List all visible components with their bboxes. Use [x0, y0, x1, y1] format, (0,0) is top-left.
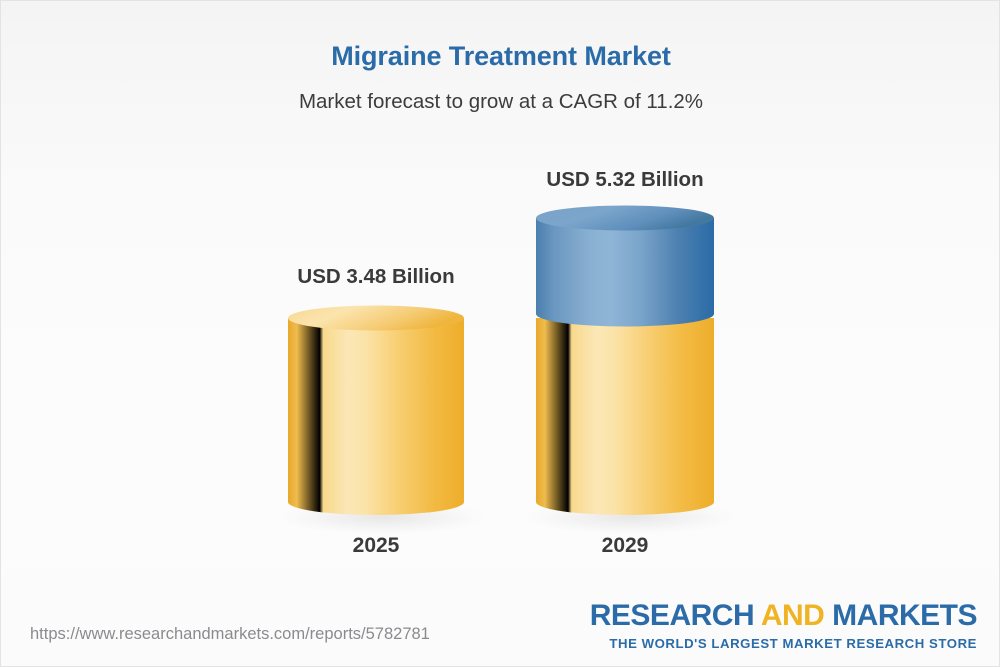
bar-2025[interactable] — [279, 306, 487, 535]
value-label-2029: USD 5.32 Billion — [536, 168, 714, 192]
bar-2025-top-cap — [288, 306, 464, 331]
bar-2025-body — [288, 318, 464, 515]
source-url[interactable]: https://www.researchandmarkets.com/repor… — [30, 625, 430, 644]
brand-wordmark: RESEARCH AND MARKETS — [590, 601, 977, 631]
category-label-2029: 2029 — [536, 534, 714, 558]
value-label-2025: USD 3.48 Billion — [288, 265, 464, 289]
brand-word-markets: MARKETS — [824, 599, 977, 632]
category-label-2025: 2025 — [288, 534, 464, 558]
bar-2029-top-cap — [536, 206, 714, 231]
bar-2029[interactable] — [525, 206, 737, 535]
brand-logo[interactable]: RESEARCH AND MARKETS THE WORLD'S LARGEST… — [590, 601, 977, 650]
brand-tagline: THE WORLD'S LARGEST MARKET RESEARCH STOR… — [590, 637, 977, 650]
chart-canvas: Migraine Treatment Market Market forecas… — [0, 0, 1000, 667]
brand-word-research: RESEARCH — [590, 599, 761, 632]
bar-2029-segment-base — [536, 318, 714, 515]
chart-plot-area — [1, 1, 1000, 667]
bar-2029-segment-growth — [536, 218, 714, 327]
brand-word-and: AND — [761, 599, 825, 632]
